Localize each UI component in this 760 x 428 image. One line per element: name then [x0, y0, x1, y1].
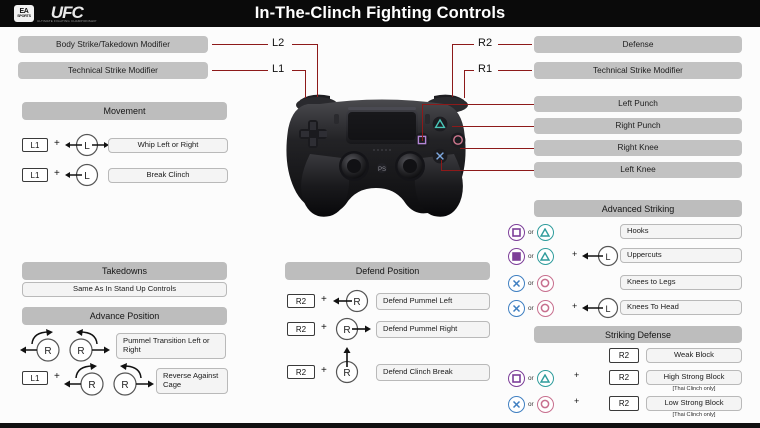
circle-button-icon-3: [537, 396, 554, 413]
buttons-hooks: or: [508, 222, 570, 242]
connector-r1-down: [464, 70, 465, 98]
stick-r-defend-1: R: [330, 287, 374, 315]
button-label-r1: R1: [478, 63, 492, 75]
buttons-knees-to-head: or: [508, 298, 570, 318]
circle-button-icon: [537, 275, 554, 292]
header-bar: EA SPORTS UFC ULTIMATE FIGHTING CHAMPION…: [0, 0, 760, 27]
label-knees-to-legs: Knees to Legs: [620, 275, 742, 290]
label-defend-pummel-left: Defend Pummel Left: [376, 293, 490, 310]
plus-sign-uppercuts: +: [572, 250, 577, 259]
section-title-movement: Movement: [22, 102, 227, 120]
section-title-advanced-striking: Advanced Striking: [534, 200, 742, 217]
svg-text:R: R: [121, 380, 128, 391]
or-text-knees-legs: or: [528, 280, 534, 287]
svg-text:L: L: [605, 252, 610, 262]
plus-sign-knees-head: +: [572, 302, 577, 311]
connector-circle-to-right-knee: [460, 148, 534, 149]
button-label-l1: L1: [272, 63, 284, 75]
connector-square-up: [422, 104, 423, 141]
connector-l1-left: [212, 70, 268, 71]
button-l1-movement-1: L1: [22, 138, 48, 152]
note-takedowns: Same As In Stand Up Controls: [22, 282, 227, 297]
connector-l2-left: [212, 44, 268, 45]
trigger-r2-weak-block: R2: [609, 348, 639, 363]
svg-text:R: R: [88, 380, 95, 391]
button-r2-defend-3: R2: [287, 365, 315, 379]
stick-r-defend-2: R: [330, 315, 374, 343]
svg-text:R: R: [343, 325, 350, 336]
svg-text:R: R: [343, 368, 350, 379]
label-defend-pummel-right: Defend Pummel Right: [376, 321, 490, 338]
triangle-button-icon-3: [537, 370, 554, 387]
buttons-uppercuts: or: [508, 246, 570, 266]
or-text-low-block: or: [528, 401, 534, 408]
button-label-l2: L2: [272, 37, 284, 49]
connector-square-to-left-punch: [422, 104, 534, 105]
triangle-button-icon: [537, 224, 554, 241]
connector-l1-right: [292, 70, 306, 71]
section-title-striking-defense: Striking Defense: [534, 326, 742, 343]
connector-l2-right: [292, 44, 318, 45]
connector-r1-left: [464, 70, 474, 71]
button-l1-movement-2: L1: [22, 168, 48, 182]
connector-cross-down: [441, 160, 442, 170]
page-title: In-The-Clinch Fighting Controls: [0, 0, 760, 27]
section-title-advance-position: Advance Position: [22, 307, 227, 325]
cross-button-icon-3: [508, 396, 525, 413]
circle-button-icon-2: [537, 300, 554, 317]
buttons-knees-to-legs: or: [508, 273, 570, 293]
plus-sign-movement-1: +: [54, 139, 60, 149]
or-text-high-block: or: [528, 375, 534, 382]
stick-r-defend-3: R: [328, 344, 366, 386]
label-right-knee: Right Knee: [534, 140, 742, 156]
or-text-knees-head: or: [528, 305, 534, 312]
square-button-icon-3: [508, 370, 525, 387]
svg-text:L: L: [84, 141, 90, 152]
triangle-button-icon-2: [537, 248, 554, 265]
connector-r1-right: [498, 70, 532, 71]
plus-sign-high-block: +: [574, 371, 579, 380]
plus-sign-defend-2: +: [321, 323, 327, 333]
svg-text:PS: PS: [378, 167, 386, 173]
label-defense: Defense: [534, 36, 742, 53]
label-pummel-transition: Pummel Transition Left or Right: [116, 333, 226, 359]
label-high-strong-block: High Strong Block: [646, 370, 742, 385]
plus-sign-movement-2: +: [54, 169, 60, 179]
stick-pair-advance-2: R R: [62, 362, 162, 398]
label-reverse-against-cage: Reverse Against Cage: [156, 368, 228, 394]
plus-sign-defend-1: +: [321, 295, 327, 305]
connector-triangle-to-right-punch: [452, 126, 534, 127]
label-knees-to-head: Knees To Head: [620, 300, 742, 315]
cross-button-icon-2: [508, 300, 525, 317]
or-text-uppercuts: or: [528, 253, 534, 260]
square-button-filled-icon: [508, 248, 525, 265]
connector-cross-to-left-knee: [441, 170, 534, 171]
stick-pair-advance-1: R R: [18, 328, 118, 364]
label-whip-left-or-right: Whip Left or Right: [108, 138, 228, 153]
trigger-r2-high-block: R2: [609, 370, 639, 385]
label-defend-clinch-break: Defend Clinch Break: [376, 364, 490, 381]
square-button-icon: [508, 224, 525, 241]
connector-r2-down: [452, 44, 453, 97]
buttons-high-strong-block: or: [508, 368, 570, 388]
svg-text:R: R: [44, 346, 51, 357]
connector-l2-down: [317, 44, 318, 97]
button-r2-defend-2: R2: [287, 322, 315, 336]
label-technical-strike-modifier-right: Technical Strike Modifier: [534, 62, 742, 79]
label-body-strike-takedown-modifier: Body Strike/Takedown Modifier: [18, 36, 208, 53]
note-high-strong-block: [Thai Clinch only]: [646, 386, 742, 392]
label-weak-block: Weak Block: [646, 348, 742, 363]
label-uppercuts: Uppercuts: [620, 248, 742, 263]
button-r2-defend-1: R2: [287, 294, 315, 308]
label-hooks: Hooks: [620, 224, 742, 239]
connector-r2-right: [498, 44, 532, 45]
trigger-r2-low-block: R2: [609, 396, 639, 411]
label-technical-strike-modifier-left: Technical Strike Modifier: [18, 62, 208, 79]
footer-bar: [0, 423, 760, 428]
svg-text:R: R: [77, 346, 84, 357]
label-break-clinch: Break Clinch: [108, 168, 228, 183]
plus-sign-low-block: +: [574, 397, 579, 406]
svg-text:L: L: [84, 171, 90, 182]
svg-text:R: R: [353, 297, 360, 308]
label-right-punch: Right Punch: [534, 118, 742, 134]
section-title-takedowns: Takedowns: [22, 262, 227, 280]
label-left-punch: Left Punch: [534, 96, 742, 112]
button-l1-advance: L1: [22, 371, 48, 385]
stick-l-movement-1: L: [64, 130, 110, 160]
label-low-strong-block: Low Strong Block: [646, 396, 742, 411]
svg-text:L: L: [605, 304, 610, 314]
note-low-strong-block: [Thai Clinch only]: [646, 412, 742, 418]
cross-button-icon: [508, 275, 525, 292]
ps4-dualshock-controller: PS: [262, 88, 502, 228]
connector-r2-left: [452, 44, 474, 45]
stick-l-uppercuts: L: [580, 245, 620, 267]
controls-infographic: EA SPORTS UFC ULTIMATE FIGHTING CHAMPION…: [0, 0, 760, 428]
button-label-r2: R2: [478, 37, 492, 49]
or-text-hooks: or: [528, 229, 534, 236]
buttons-low-strong-block: or: [508, 394, 570, 414]
connector-l1-down: [305, 70, 306, 98]
label-left-knee: Left Knee: [534, 162, 742, 178]
plus-sign-defend-3: +: [321, 366, 327, 376]
stick-l-movement-2: L: [64, 160, 110, 190]
section-title-defend-position: Defend Position: [285, 262, 490, 280]
plus-sign-advance: +: [54, 372, 60, 382]
stick-l-knees-head: L: [580, 297, 620, 319]
